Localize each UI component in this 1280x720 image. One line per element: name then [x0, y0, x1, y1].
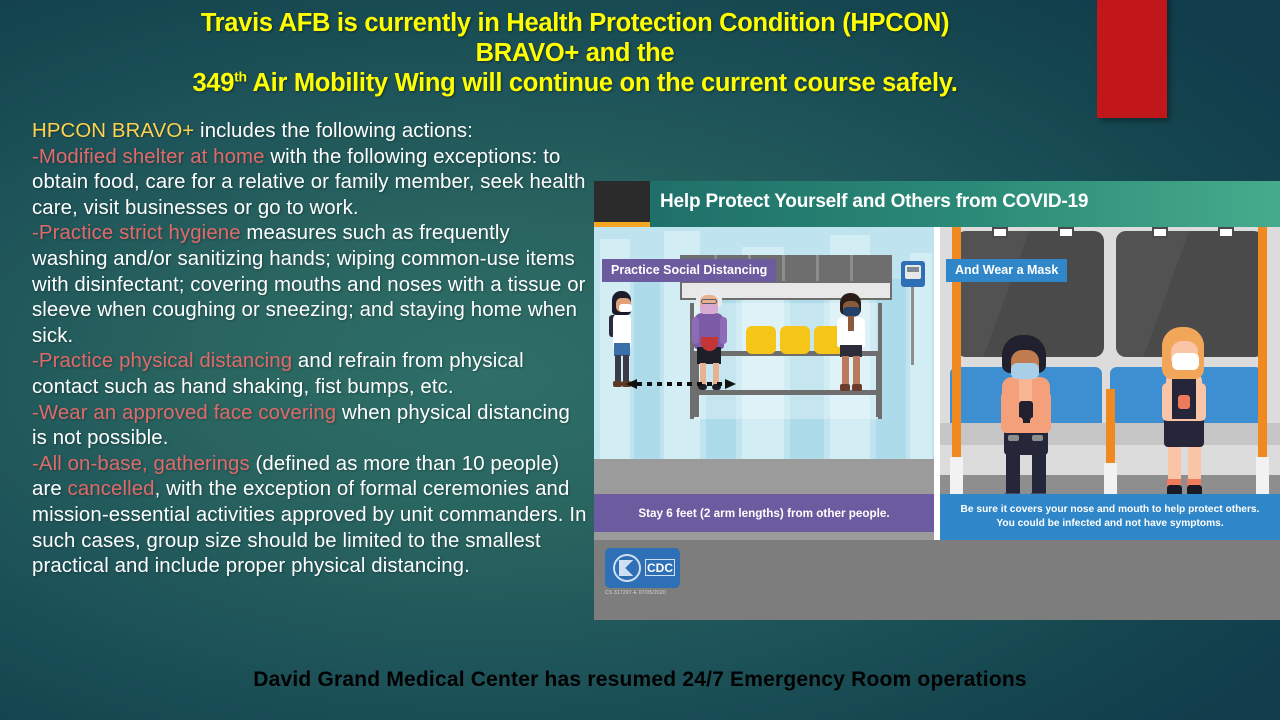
shelter-seat	[780, 326, 810, 354]
grab-pole-base	[1256, 457, 1269, 499]
shoe	[840, 384, 850, 391]
figure-passenger-right	[1162, 327, 1218, 513]
intro-highlight: HPCON BRAVO+	[32, 120, 194, 142]
bus-sign-pole	[911, 287, 914, 365]
bullet-3: -Practice physical distancing and refrai…	[32, 349, 590, 400]
arrow-head-left	[626, 379, 637, 389]
infographic-footer: CDC CS 317297-E 07/05/2020 cdc.gov/coron…	[594, 540, 1280, 620]
face-mask-icon	[619, 304, 632, 312]
caption-wear-a-mask: Be sure it covers your nose and mouth to…	[940, 494, 1280, 540]
grab-pole-base	[950, 457, 963, 499]
bullet-1: -Modified shelter at home with the follo…	[32, 145, 590, 222]
shelter-seat	[746, 326, 776, 354]
roof-rib	[850, 255, 853, 281]
page-title: Travis AFB is currently in Health Protec…	[60, 8, 1090, 98]
arm	[1162, 383, 1172, 421]
bullet-2-highlight: -Practice strict hygiene	[32, 222, 241, 244]
bullet-1-highlight: -Modified shelter at home	[32, 146, 265, 168]
leg	[853, 356, 860, 386]
bullet-4-highlight: -Wear an approved face covering	[32, 402, 336, 424]
infographic-header-title: Help Protect Yourself and Others from CO…	[660, 191, 1088, 213]
grab-pole	[1106, 389, 1115, 465]
bullet-5: -All on-base, gatherings (defined as mor…	[32, 452, 590, 580]
leg	[1006, 453, 1020, 497]
title-wing-rest: Air Mobility Wing will continue on the c…	[247, 69, 958, 97]
hand	[1030, 417, 1041, 430]
smartphone-icon	[1178, 395, 1190, 409]
arrow-dotted-line	[637, 382, 725, 386]
hand	[1012, 417, 1023, 430]
infographic-header: Help Protect Yourself and Others from CO…	[594, 181, 1280, 227]
bench-leg	[876, 355, 881, 417]
arrow-head-right	[725, 379, 736, 389]
figure-seated-woman	[837, 293, 867, 393]
red-accent-block	[1097, 0, 1167, 118]
bullet-2: -Practice strict hygiene measures such a…	[32, 221, 590, 349]
figure-passenger-left	[1002, 335, 1062, 515]
window-handle	[992, 227, 1008, 238]
window-handle	[1058, 227, 1074, 238]
jeans-rip	[1032, 435, 1043, 441]
title-wing-number: 349	[192, 69, 234, 97]
arm	[692, 317, 699, 344]
figure-elderly-woman	[694, 287, 726, 393]
title-line-2: BRAVO+ and the	[60, 38, 1090, 68]
face-mask-icon	[1172, 353, 1199, 370]
hpcon-actions-text: HPCON BRAVO+ includes the following acti…	[32, 119, 590, 580]
title-line-3: 349th Air Mobility Wing will continue on…	[60, 68, 1090, 98]
bullet-5-highlight: -All on-base, gatherings	[32, 453, 250, 475]
collar	[848, 317, 854, 331]
leg	[1168, 445, 1181, 483]
footer-notice: David Grand Medical Center has resumed 2…	[0, 668, 1280, 692]
bus-icon-window	[907, 267, 919, 272]
grab-pole	[1258, 227, 1267, 459]
cdc-publication-code: CS 317297-E 07/05/2020	[605, 590, 666, 596]
intro-rest: includes the following actions:	[194, 120, 473, 142]
header-dark-square	[594, 181, 650, 222]
face-mask-icon	[1011, 363, 1039, 379]
bullet-5-highlight-2: cancelled	[68, 478, 155, 500]
badge-wear-a-mask: And Wear a Mask	[946, 259, 1067, 282]
face-mask-icon	[700, 304, 718, 314]
slide-canvas: Travis AFB is currently in Health Protec…	[0, 0, 1280, 720]
window-handle	[1152, 227, 1168, 238]
bullet-4: -Wear an approved face covering when phy…	[32, 401, 590, 452]
roof-rib	[782, 255, 785, 281]
leg	[615, 355, 621, 383]
caption-social-distancing: Stay 6 feet (2 arm lengths) from other p…	[594, 494, 934, 532]
caption-left-text: Stay 6 feet (2 arm lengths) from other p…	[638, 507, 889, 520]
title-line-1: Travis AFB is currently in Health Protec…	[60, 8, 1090, 38]
shoe	[852, 384, 862, 391]
lap	[1164, 417, 1204, 447]
leg	[1188, 445, 1201, 483]
cdc-logo-text: CDC	[645, 559, 675, 576]
face-mask-icon	[843, 307, 860, 316]
cdc-infographic: Help Protect Yourself and Others from CO…	[594, 181, 1280, 620]
leg	[1032, 453, 1046, 497]
badge-social-distancing: Practice Social Distancing	[602, 259, 776, 282]
title-wing-ordinal: th	[234, 69, 247, 85]
caption-right-line-2: You could be infected and not have sympt…	[996, 517, 1223, 531]
roof-rib	[816, 255, 819, 281]
window-handle	[1218, 227, 1234, 238]
intro-paragraph: HPCON BRAVO+ includes the following acti…	[32, 119, 590, 145]
arm	[720, 317, 727, 344]
arm	[1196, 383, 1206, 421]
leg	[842, 356, 849, 386]
jeans-rip	[1008, 435, 1019, 441]
hhs-bird-icon	[619, 560, 635, 576]
bullet-3-highlight: -Practice physical distancing	[32, 350, 292, 372]
cdc-logo: CDC	[605, 548, 680, 588]
distance-arrow-icon	[626, 379, 736, 389]
figure-standing-woman	[612, 291, 636, 391]
shoe	[613, 381, 622, 387]
building-shape	[634, 267, 660, 459]
caption-right-line-1: Be sure it covers your nose and mouth to…	[961, 503, 1260, 517]
